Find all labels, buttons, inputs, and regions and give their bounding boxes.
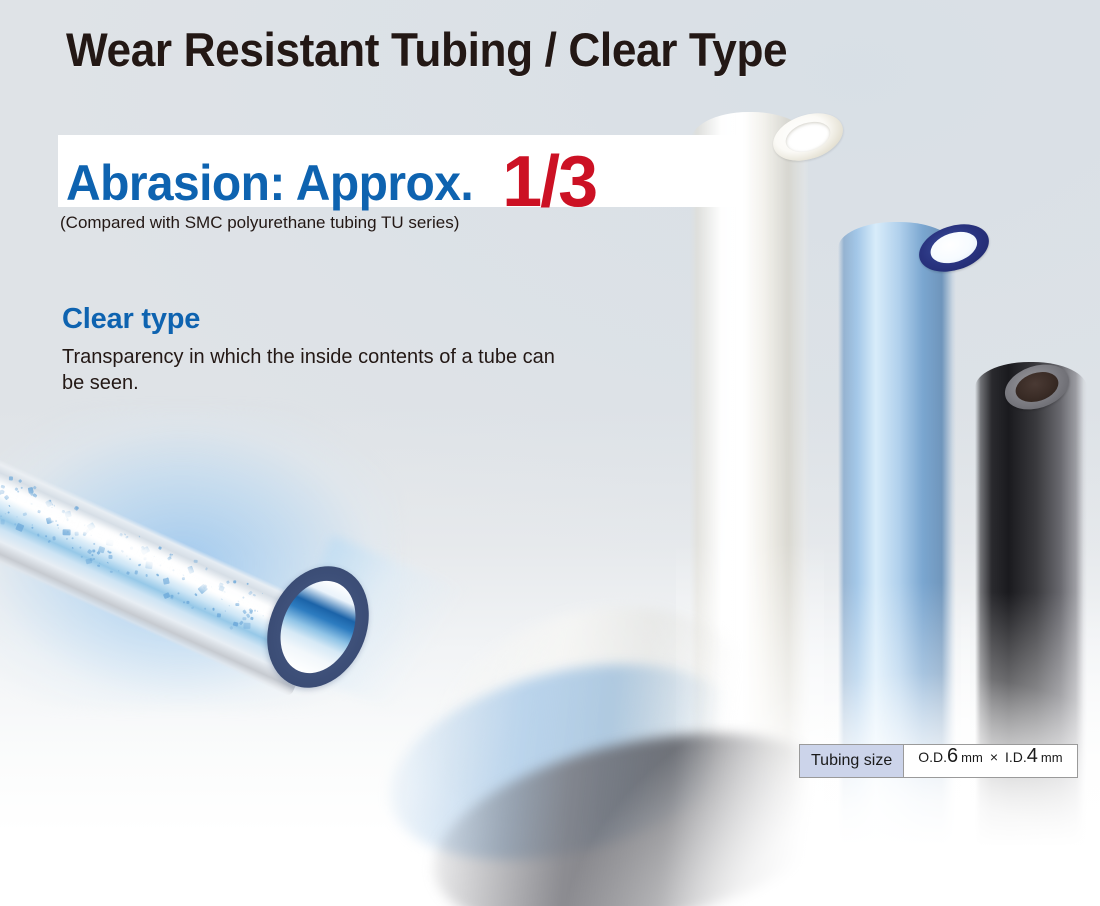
tubing-size-label: Tubing size (800, 745, 904, 777)
od-value: 6 (947, 745, 958, 768)
black-tube (975, 362, 1087, 882)
clear-tube (690, 112, 810, 872)
clear-tube-bore (782, 117, 834, 158)
magnified-clear-tube-inset (0, 388, 440, 708)
dimension-separator: × (990, 749, 998, 765)
blue-tube-bore (927, 226, 982, 268)
abrasion-ratio: 1/3 (502, 141, 596, 223)
abrasion-headline: Abrasion: Approx. 1/3 (66, 135, 596, 217)
blue-tube-fade (824, 582, 970, 882)
id-prefix: I.D. (1005, 749, 1027, 765)
product-banner: Wear Resistant Tubing / Clear Type Abras… (0, 0, 1100, 906)
abrasion-label: Abrasion: Approx. (66, 154, 473, 212)
id-unit: mm (1041, 750, 1063, 765)
clear-type-body: Transparency in which the inside content… (62, 344, 562, 397)
id-value: 4 (1027, 745, 1038, 768)
page-title: Wear Resistant Tubing / Clear Type (66, 22, 787, 77)
od-prefix: O.D. (918, 749, 947, 765)
compared-note: (Compared with SMC polyurethane tubing T… (60, 213, 459, 233)
clear-type-heading: Clear type (62, 303, 200, 336)
tubing-size-table: Tubing size O.D.6mm × I.D.4mm (799, 744, 1078, 778)
black-tube-bore (1012, 367, 1062, 407)
od-unit: mm (961, 750, 983, 765)
tubing-size-value: O.D.6mm × I.D.4mm (904, 745, 1076, 777)
blue-tube (838, 222, 956, 882)
black-tube-fade (961, 592, 1100, 882)
clear-tube-fade (676, 542, 824, 872)
